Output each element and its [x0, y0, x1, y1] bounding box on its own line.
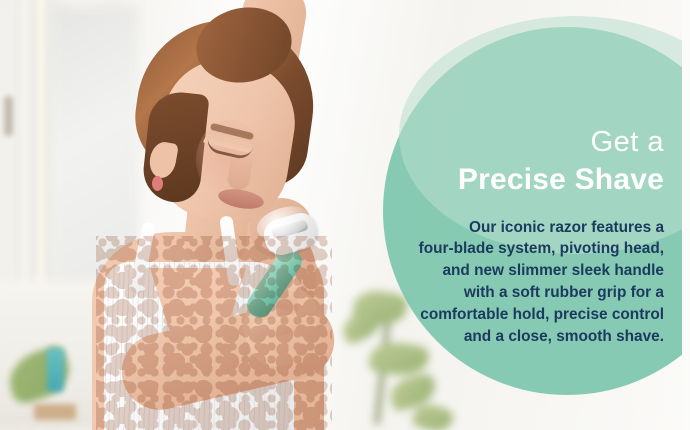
body-copy-line: Our iconic razor features a: [364, 217, 664, 239]
body-copy-line: with a soft rubber grip for a: [364, 282, 664, 304]
headline-text: Precise Shave: [364, 163, 664, 197]
body-copy-line: and new slimmer sleek handle: [364, 260, 664, 282]
body-copy-line: four-blade system, pivoting head,: [364, 238, 664, 260]
body-copy-line: and a close, smooth shave.: [364, 326, 664, 348]
promo-copy-block: Get a Precise Shave Our iconic razor fea…: [364, 128, 664, 348]
product-ad-banner: Get a Precise Shave Our iconic razor fea…: [0, 0, 690, 430]
body-copy: Our iconic razor features a four-blade s…: [364, 217, 664, 348]
eyebrow-text: Get a: [364, 128, 664, 157]
right-margin-strip: [682, 0, 690, 430]
body-copy-line: comfortable hold, precise control: [364, 304, 664, 326]
